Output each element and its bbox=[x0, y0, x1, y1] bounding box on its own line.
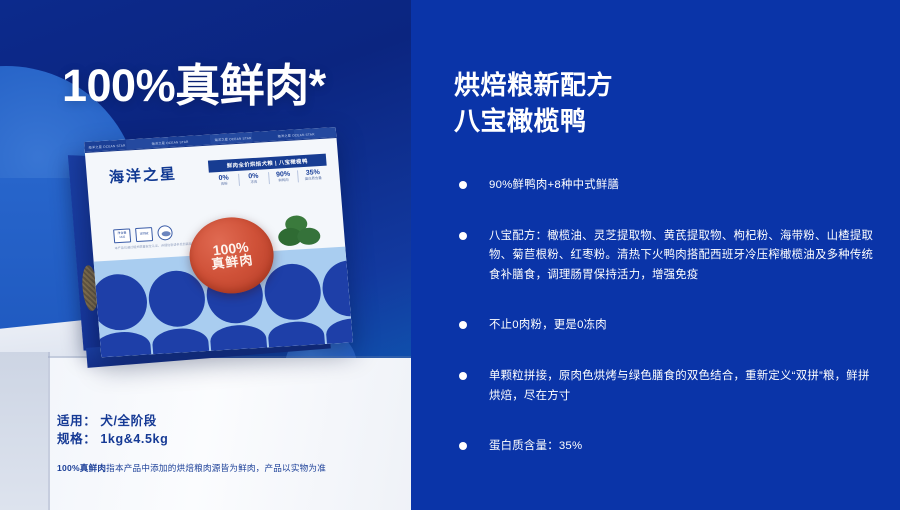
list-item: 蛋白质含量：35% bbox=[454, 437, 874, 457]
olive-illustration bbox=[277, 214, 326, 251]
nutrition-cell: 0% 冻肉 bbox=[239, 172, 270, 186]
bullet-dot-icon bbox=[459, 321, 467, 329]
package-brand-name: 海洋之星 bbox=[108, 163, 178, 188]
list-item: 不止0肉粉，更是0冻肉 bbox=[454, 316, 874, 336]
page-title: 100%真鲜肉* bbox=[62, 62, 326, 110]
package-strip-text: 海洋之星 OCEAN STAR 海洋之星 OCEAN STAR 海洋之星 OCE… bbox=[88, 129, 336, 151]
nutrition-cell: 0% 肉粉 bbox=[209, 174, 240, 188]
feature-text: 90%鲜鸭肉+8种中式鲜膳 bbox=[489, 176, 874, 196]
nutrition-cell: 90% 鲜鸭肉 bbox=[269, 170, 300, 184]
feature-text: 蛋白质含量：35% bbox=[489, 437, 874, 457]
medallion-text: 真鲜肉 bbox=[211, 253, 255, 273]
feature-text: 单颗粒拼接，原肉色烘烤与绿色膳食的双色结合，重新定义“双拼”粮，鲜拼烘焙，尽在方… bbox=[489, 367, 874, 406]
bullet-dot-icon bbox=[459, 372, 467, 380]
list-item: 90%鲜鸭肉+8种中式鲜膳 bbox=[454, 176, 874, 196]
left-visual-panel: 100%真鲜肉* 海洋之星 OCEAN STAR 海洋之星 OCEAN STAR… bbox=[0, 0, 411, 510]
spec-size-line: 规格： 1kg&4.5kg bbox=[57, 430, 168, 448]
package-top-strip: 海洋之星 OCEAN STAR 海洋之星 OCEAN STAR 海洋之星 OCE… bbox=[84, 127, 336, 153]
package-nutrition-panel: 鲜肉全价烘焙犬粮 | 八宝橄榄鸭 0% 肉粉 0% 冻肉 90% 鲜鸭肉 bbox=[208, 154, 328, 188]
nutrition-label: 鲜鸭肉 bbox=[269, 178, 298, 184]
feature-text: 八宝配方：橄榄油、灵芝提取物、黄芪提取物、枸杞粉、海带粉、山楂提取物、菊苣根粉、… bbox=[489, 227, 874, 286]
footnote-body: 指本产品中添加的烘焙粮肉源皆为鲜肉，产品以实物为准 bbox=[106, 463, 326, 473]
bullet-dot-icon bbox=[459, 181, 467, 189]
package-certification-icons: 净含量 1KG 可回收 bbox=[113, 225, 173, 243]
bullet-dot-icon bbox=[459, 442, 467, 450]
pedestal-edge-line bbox=[48, 352, 50, 510]
recycle-badge-icon: 可回收 bbox=[135, 227, 153, 242]
safety-seal-icon bbox=[157, 225, 173, 241]
right-info-panel: 烘焙粮新配方 八宝橄榄鸭 90%鲜鸭肉+8种中式鲜膳 八宝配方：橄榄油、灵芝提取… bbox=[411, 0, 900, 510]
package-front-face: 海洋之星 OCEAN STAR 海洋之星 OCEAN STAR 海洋之星 OCE… bbox=[84, 127, 353, 357]
nutrition-cell: 35% 蛋白质含量 bbox=[298, 169, 328, 183]
product-headline: 烘焙粮新配方 八宝橄榄鸭 bbox=[454, 68, 613, 140]
headline-line-2: 八宝橄榄鸭 bbox=[454, 104, 613, 140]
bullet-dot-icon bbox=[459, 232, 467, 240]
product-spec: 适用： 犬/全阶段 规格： 1kg&4.5kg bbox=[57, 412, 168, 448]
nutrition-label: 冻肉 bbox=[239, 180, 268, 186]
weight-badge-icon: 净含量 1KG bbox=[113, 228, 131, 243]
product-banner: 100%真鲜肉* 海洋之星 OCEAN STAR 海洋之星 OCEAN STAR… bbox=[0, 0, 900, 510]
feature-text: 不止0肉粉，更是0冻肉 bbox=[489, 316, 874, 336]
disclaimer-footnote: 100%真鲜肉指本产品中添加的烘焙粮肉源皆为鲜肉，产品以实物为准 bbox=[57, 462, 326, 474]
footnote-highlight: 100%真鲜肉 bbox=[57, 463, 106, 473]
feature-list: 90%鲜鸭肉+8种中式鲜膳 八宝配方：橄榄油、灵芝提取物、黄芪提取物、枸杞粉、海… bbox=[454, 176, 874, 488]
nutrition-label: 蛋白质含量 bbox=[299, 177, 328, 183]
list-item: 单颗粒拼接，原肉色烘烤与绿色膳食的双色结合，重新定义“双拼”粮，鲜拼烘焙，尽在方… bbox=[454, 367, 874, 406]
nutrition-label: 肉粉 bbox=[210, 182, 239, 188]
pedestal-left-face bbox=[0, 352, 48, 510]
spec-suitable-line: 适用： 犬/全阶段 bbox=[57, 412, 168, 430]
list-item: 八宝配方：橄榄油、灵芝提取物、黄芪提取物、枸杞粉、海带粉、山楂提取物、菊苣根粉、… bbox=[454, 227, 874, 286]
headline-line-1: 烘焙粮新配方 bbox=[454, 68, 613, 104]
product-package: 海洋之星 OCEAN STAR 海洋之星 OCEAN STAR 海洋之星 OCE… bbox=[68, 142, 336, 367]
